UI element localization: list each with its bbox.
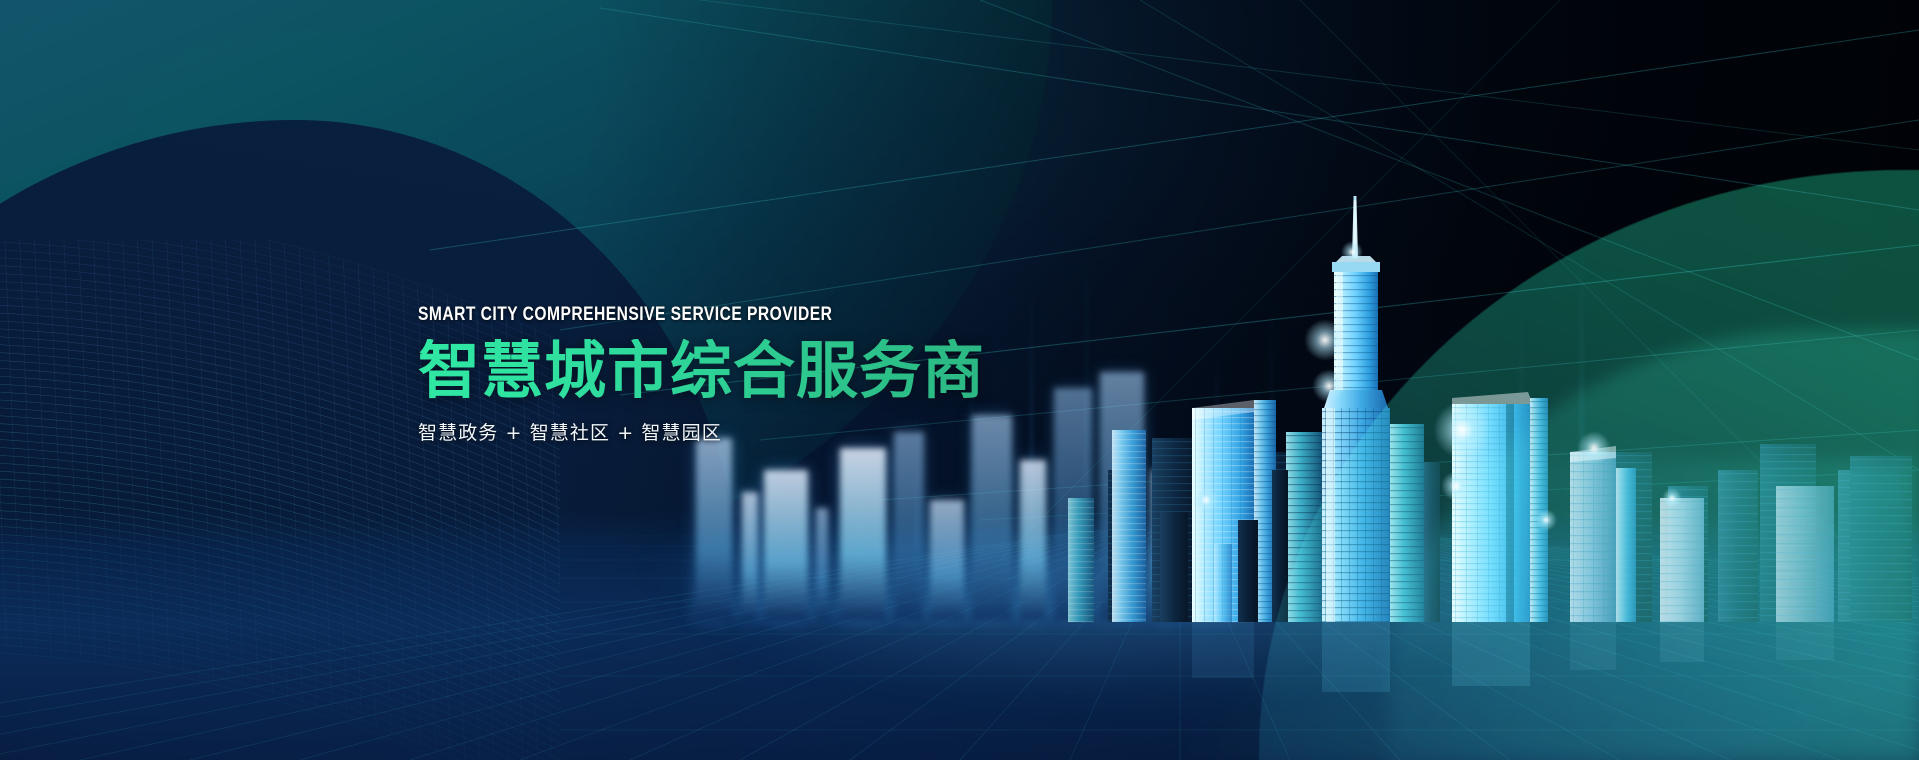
hero-headline: 智慧城市综合服务商 bbox=[418, 339, 1058, 402]
hero-subline: 智慧政务 + 智慧社区 + 智慧园区 bbox=[418, 418, 1058, 445]
green-bottom-tint bbox=[1159, 460, 1919, 760]
banner-hero: SMART CITY COMPREHENSIVE SERVICE PROVIDE… bbox=[0, 0, 1919, 760]
hero-copy-block: SMART CITY COMPREHENSIVE SERVICE PROVIDE… bbox=[418, 305, 1058, 445]
hero-eyebrow: SMART CITY COMPREHENSIVE SERVICE PROVIDE… bbox=[418, 305, 930, 325]
